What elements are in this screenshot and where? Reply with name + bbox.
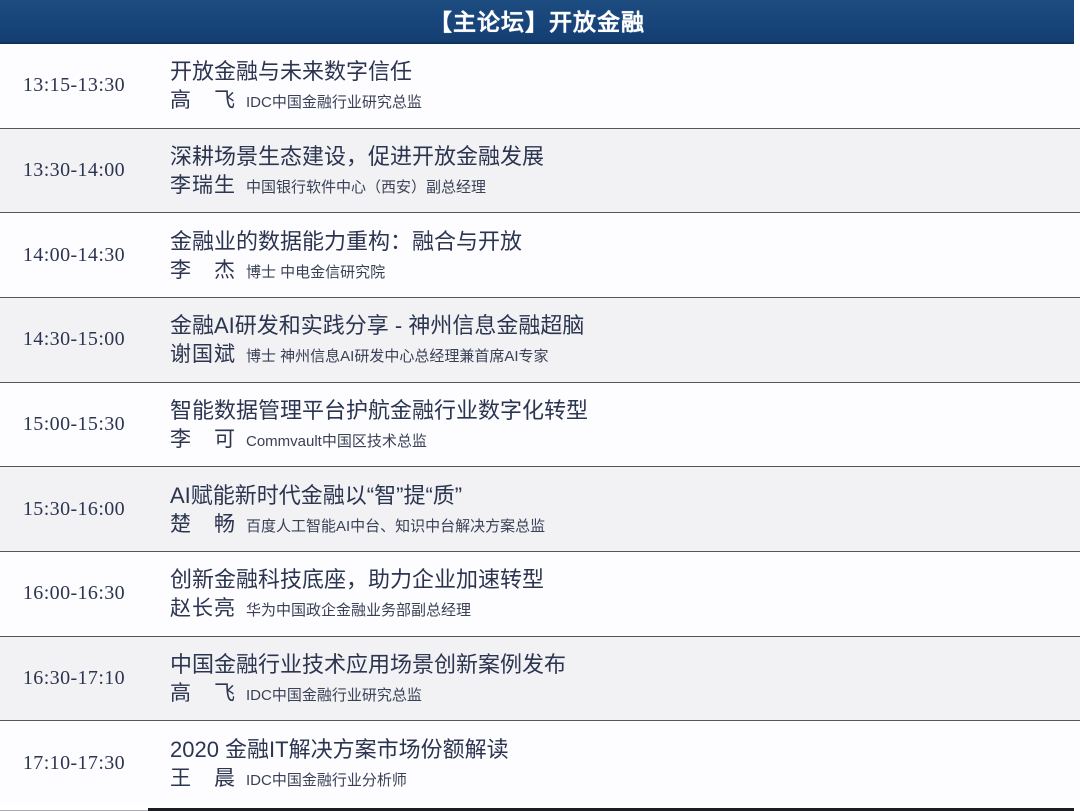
speaker-affiliation: IDC中国金融行业研究总监 <box>246 687 422 706</box>
speaker-affiliation: IDC中国金融行业分析师 <box>246 772 407 791</box>
session-title: 创新金融科技底座，助力企业加速转型 <box>170 565 1066 594</box>
session-info: 创新金融科技底座，助力企业加速转型赵长亮华为中国政企金融业务部副总经理 <box>148 565 1080 622</box>
bottom-rule-right-segment <box>148 808 1074 811</box>
speaker-name: 李 可 <box>170 427 236 453</box>
speaker-line: 谢国斌博士 神州信息AI研发中心总经理兼首席AI专家 <box>170 342 1066 368</box>
session-time: 17:10-17:30 <box>0 752 148 775</box>
session-info: 中国金融行业技术应用场景创新案例发布高 飞IDC中国金融行业研究总监 <box>148 650 1080 707</box>
session-info: 金融AI研发和实践分享 - 神州信息金融超脑谢国斌博士 神州信息AI研发中心总经… <box>148 311 1080 368</box>
speaker-line: 李瑞生中国银行软件中心（西安）副总经理 <box>170 173 1066 199</box>
session-row: 14:00-14:30金融业的数据能力重构：融合与开放李 杰博士 中电金信研究院 <box>0 213 1080 298</box>
session-time: 14:00-14:30 <box>0 244 148 267</box>
session-title: 深耕场景生态建设，促进开放金融发展 <box>170 142 1066 171</box>
speaker-affiliation: 博士 神州信息AI研发中心总经理兼首席AI专家 <box>246 348 549 367</box>
agenda-panel: 【主论坛】开放金融 13:15-13:30开放金融与未来数字信任高 飞IDC中国… <box>0 0 1080 811</box>
session-title: 开放金融与未来数字信任 <box>170 57 1066 86</box>
session-row: 16:00-16:30创新金融科技底座，助力企业加速转型赵长亮华为中国政企金融业… <box>0 552 1080 637</box>
session-info: 2020 金融IT解决方案市场份额解读王 晨IDC中国金融行业分析师 <box>148 735 1080 792</box>
session-info: AI赋能新时代金融以“智”提“质”楚 畅百度人工智能AI中台、知识中台解决方案总… <box>148 481 1080 538</box>
speaker-affiliation: 华为中国政企金融业务部副总经理 <box>246 602 471 621</box>
session-row: 15:30-16:00AI赋能新时代金融以“智”提“质”楚 畅百度人工智能AI中… <box>0 467 1080 552</box>
session-info: 深耕场景生态建设，促进开放金融发展李瑞生中国银行软件中心（西安）副总经理 <box>148 142 1080 199</box>
speaker-name: 赵长亮 <box>170 596 236 622</box>
speaker-affiliation: 中国银行软件中心（西安）副总经理 <box>246 179 486 198</box>
session-row: 17:10-17:302020 金融IT解决方案市场份额解读王 晨IDC中国金融… <box>0 721 1080 805</box>
speaker-name: 高 飞 <box>170 681 236 707</box>
bottom-rule <box>0 805 1080 811</box>
session-time: 13:30-14:00 <box>0 159 148 182</box>
session-title: 智能数据管理平台护航金融行业数字化转型 <box>170 396 1066 425</box>
session-title: 金融业的数据能力重构：融合与开放 <box>170 227 1066 256</box>
session-title: AI赋能新时代金融以“智”提“质” <box>170 481 1066 510</box>
session-info: 智能数据管理平台护航金融行业数字化转型李 可Commvault中国区技术总监 <box>148 396 1080 453</box>
speaker-line: 高 飞IDC中国金融行业研究总监 <box>170 681 1066 707</box>
session-title: 2020 金融IT解决方案市场份额解读 <box>170 735 1066 764</box>
session-time: 16:00-16:30 <box>0 582 148 605</box>
speaker-line: 李 可Commvault中国区技术总监 <box>170 427 1066 453</box>
session-row: 13:15-13:30开放金融与未来数字信任高 飞IDC中国金融行业研究总监 <box>0 44 1080 129</box>
session-info: 金融业的数据能力重构：融合与开放李 杰博士 中电金信研究院 <box>148 227 1080 284</box>
speaker-affiliation: 博士 中电金信研究院 <box>246 264 385 283</box>
speaker-name: 王 晨 <box>170 766 236 792</box>
session-time: 16:30-17:10 <box>0 667 148 690</box>
session-time: 13:15-13:30 <box>0 74 148 97</box>
speaker-line: 赵长亮华为中国政企金融业务部副总经理 <box>170 596 1066 622</box>
session-title: 金融AI研发和实践分享 - 神州信息金融超脑 <box>170 311 1066 340</box>
session-time: 15:30-16:00 <box>0 498 148 521</box>
speaker-name: 李 杰 <box>170 258 236 284</box>
speaker-affiliation: Commvault中国区技术总监 <box>246 433 427 452</box>
speaker-line: 楚 畅百度人工智能AI中台、知识中台解决方案总监 <box>170 512 1066 538</box>
session-row: 13:30-14:00深耕场景生态建设，促进开放金融发展李瑞生中国银行软件中心（… <box>0 129 1080 214</box>
session-time: 14:30-15:00 <box>0 328 148 351</box>
speaker-line: 王 晨IDC中国金融行业分析师 <box>170 766 1066 792</box>
session-row: 15:00-15:30智能数据管理平台护航金融行业数字化转型李 可Commvau… <box>0 383 1080 468</box>
session-time: 15:00-15:30 <box>0 413 148 436</box>
session-row: 14:30-15:00金融AI研发和实践分享 - 神州信息金融超脑谢国斌博士 神… <box>0 298 1080 383</box>
session-row: 16:30-17:10中国金融行业技术应用场景创新案例发布高 飞IDC中国金融行… <box>0 637 1080 722</box>
speaker-name: 高 飞 <box>170 88 236 114</box>
forum-header-banner: 【主论坛】开放金融 <box>0 0 1074 44</box>
speaker-name: 谢国斌 <box>170 342 236 368</box>
forum-title: 【主论坛】开放金融 <box>429 11 645 34</box>
session-info: 开放金融与未来数字信任高 飞IDC中国金融行业研究总监 <box>148 57 1080 114</box>
speaker-affiliation: IDC中国金融行业研究总监 <box>246 94 422 113</box>
speaker-affiliation: 百度人工智能AI中台、知识中台解决方案总监 <box>246 518 545 537</box>
speaker-name: 李瑞生 <box>170 173 236 199</box>
session-title: 中国金融行业技术应用场景创新案例发布 <box>170 650 1066 679</box>
speaker-line: 高 飞IDC中国金融行业研究总监 <box>170 88 1066 114</box>
speaker-name: 楚 畅 <box>170 512 236 538</box>
session-list: 13:15-13:30开放金融与未来数字信任高 飞IDC中国金融行业研究总监13… <box>0 44 1080 805</box>
speaker-line: 李 杰博士 中电金信研究院 <box>170 258 1066 284</box>
